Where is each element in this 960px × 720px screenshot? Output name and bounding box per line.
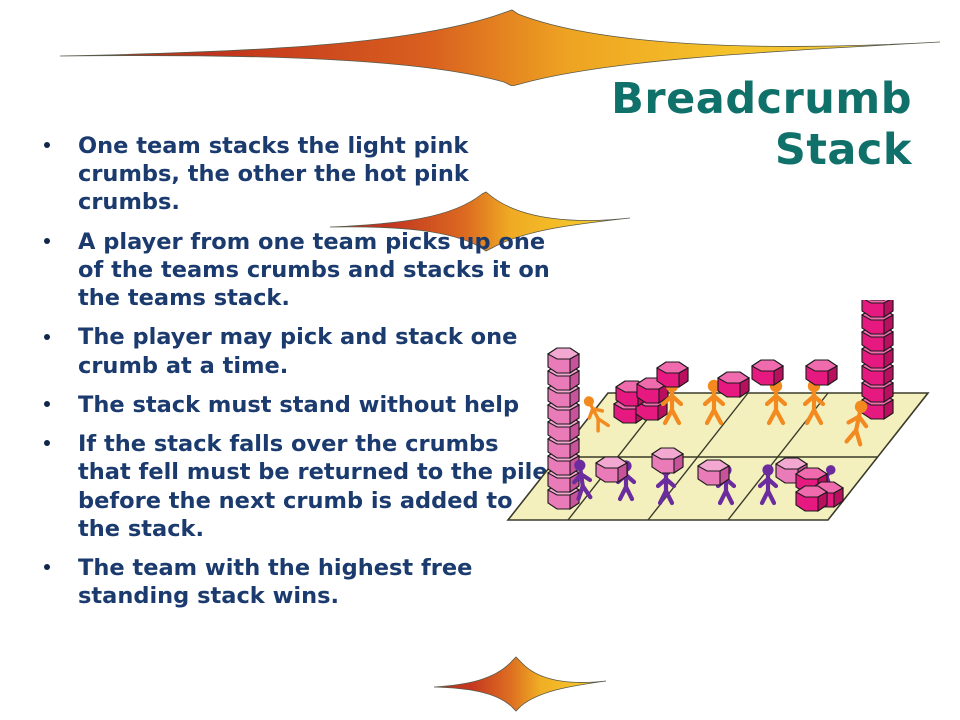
- list-item-text: The stack must stand without help: [78, 391, 556, 419]
- list-item: If the stack falls over the crumbs that …: [36, 430, 556, 543]
- hot-pink-crumb-pile-left: [614, 378, 668, 423]
- list-item-text: If the stack falls over the crumbs that …: [78, 430, 556, 543]
- list-item-text: The player may pick and stack one crumb …: [78, 323, 556, 379]
- page-title-line-1: Breadcrumb: [482, 74, 912, 125]
- slide-canvas: Breadcrumb Stack One team stacks the lig…: [0, 0, 960, 720]
- bullet-marker-icon: [44, 401, 50, 407]
- bullet-marker-icon: [44, 440, 50, 446]
- list-item-text: One team stacks the light pink crumbs, t…: [78, 132, 556, 217]
- bullet-marker-icon: [44, 238, 50, 244]
- bottom-diamond-ornament: [420, 655, 620, 715]
- list-item: The team with the highest free standing …: [36, 554, 556, 610]
- list-item-text: The team with the highest free standing …: [78, 554, 556, 610]
- list-item: A player from one team picks up one of t…: [36, 228, 556, 313]
- hot-pink-tall-stack: [862, 300, 893, 419]
- bullet-marker-icon: [44, 142, 50, 148]
- bullet-marker-icon: [44, 334, 50, 340]
- breadcrumb-stack-game-illustration: [496, 300, 960, 540]
- list-item: One team stacks the light pink crumbs, t…: [36, 132, 556, 217]
- list-item: The player may pick and stack one crumb …: [36, 323, 556, 379]
- light-pink-tall-stack: [548, 348, 579, 509]
- list-item-text: A player from one team picks up one of t…: [78, 228, 556, 313]
- bullet-list: One team stacks the light pink crumbs, t…: [36, 132, 556, 622]
- bullet-marker-icon: [44, 564, 50, 570]
- list-item: The stack must stand without help: [36, 391, 556, 419]
